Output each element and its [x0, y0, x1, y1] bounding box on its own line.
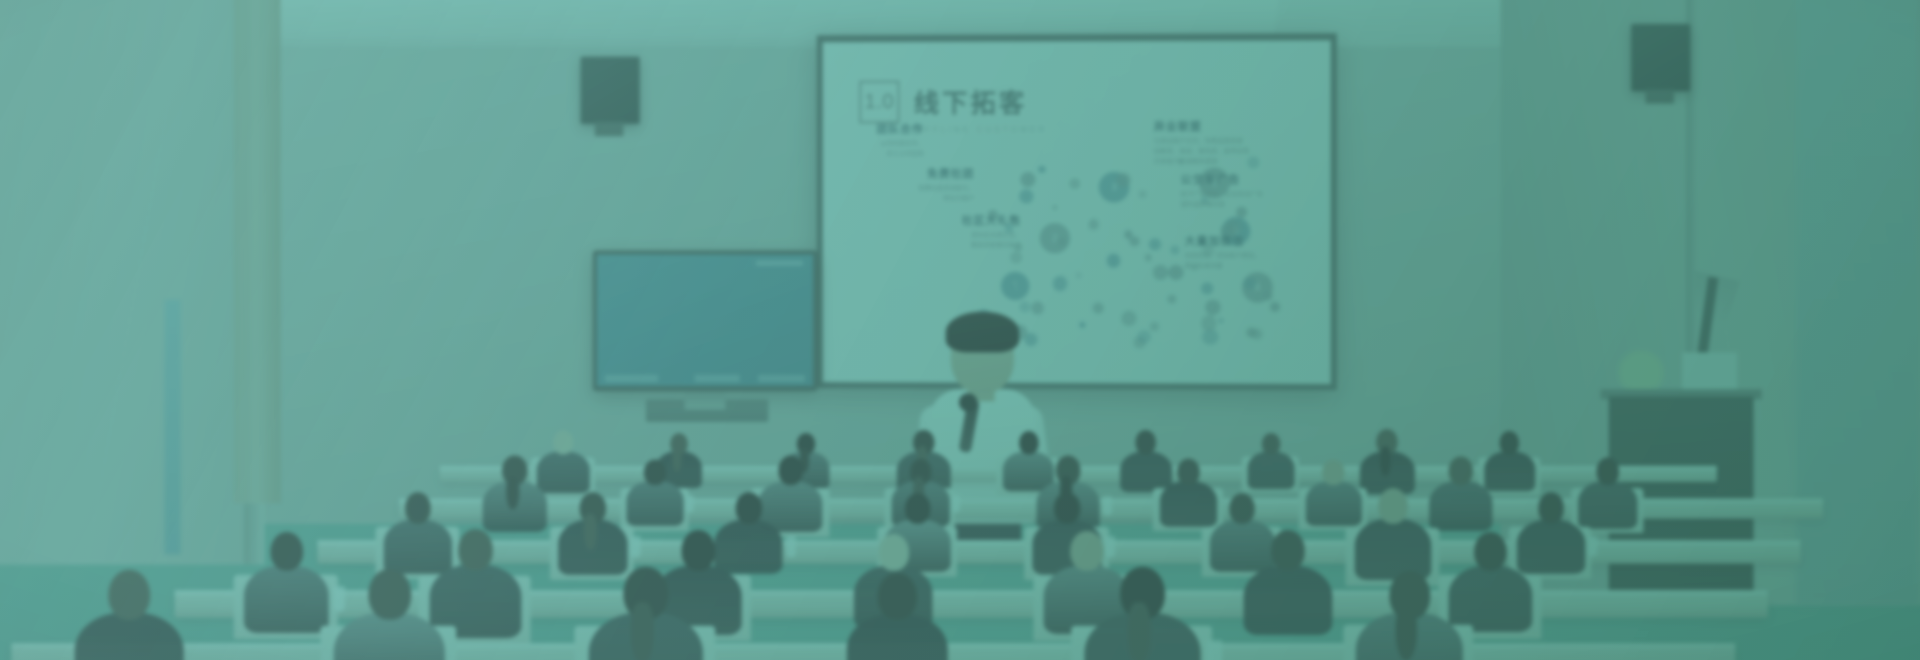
hero-banner: 1.0 线下拓客 OFFLINE CUSTOMER 123456 团队合作公司内… — [0, 0, 1920, 660]
vignette-overlay — [0, 0, 1920, 660]
